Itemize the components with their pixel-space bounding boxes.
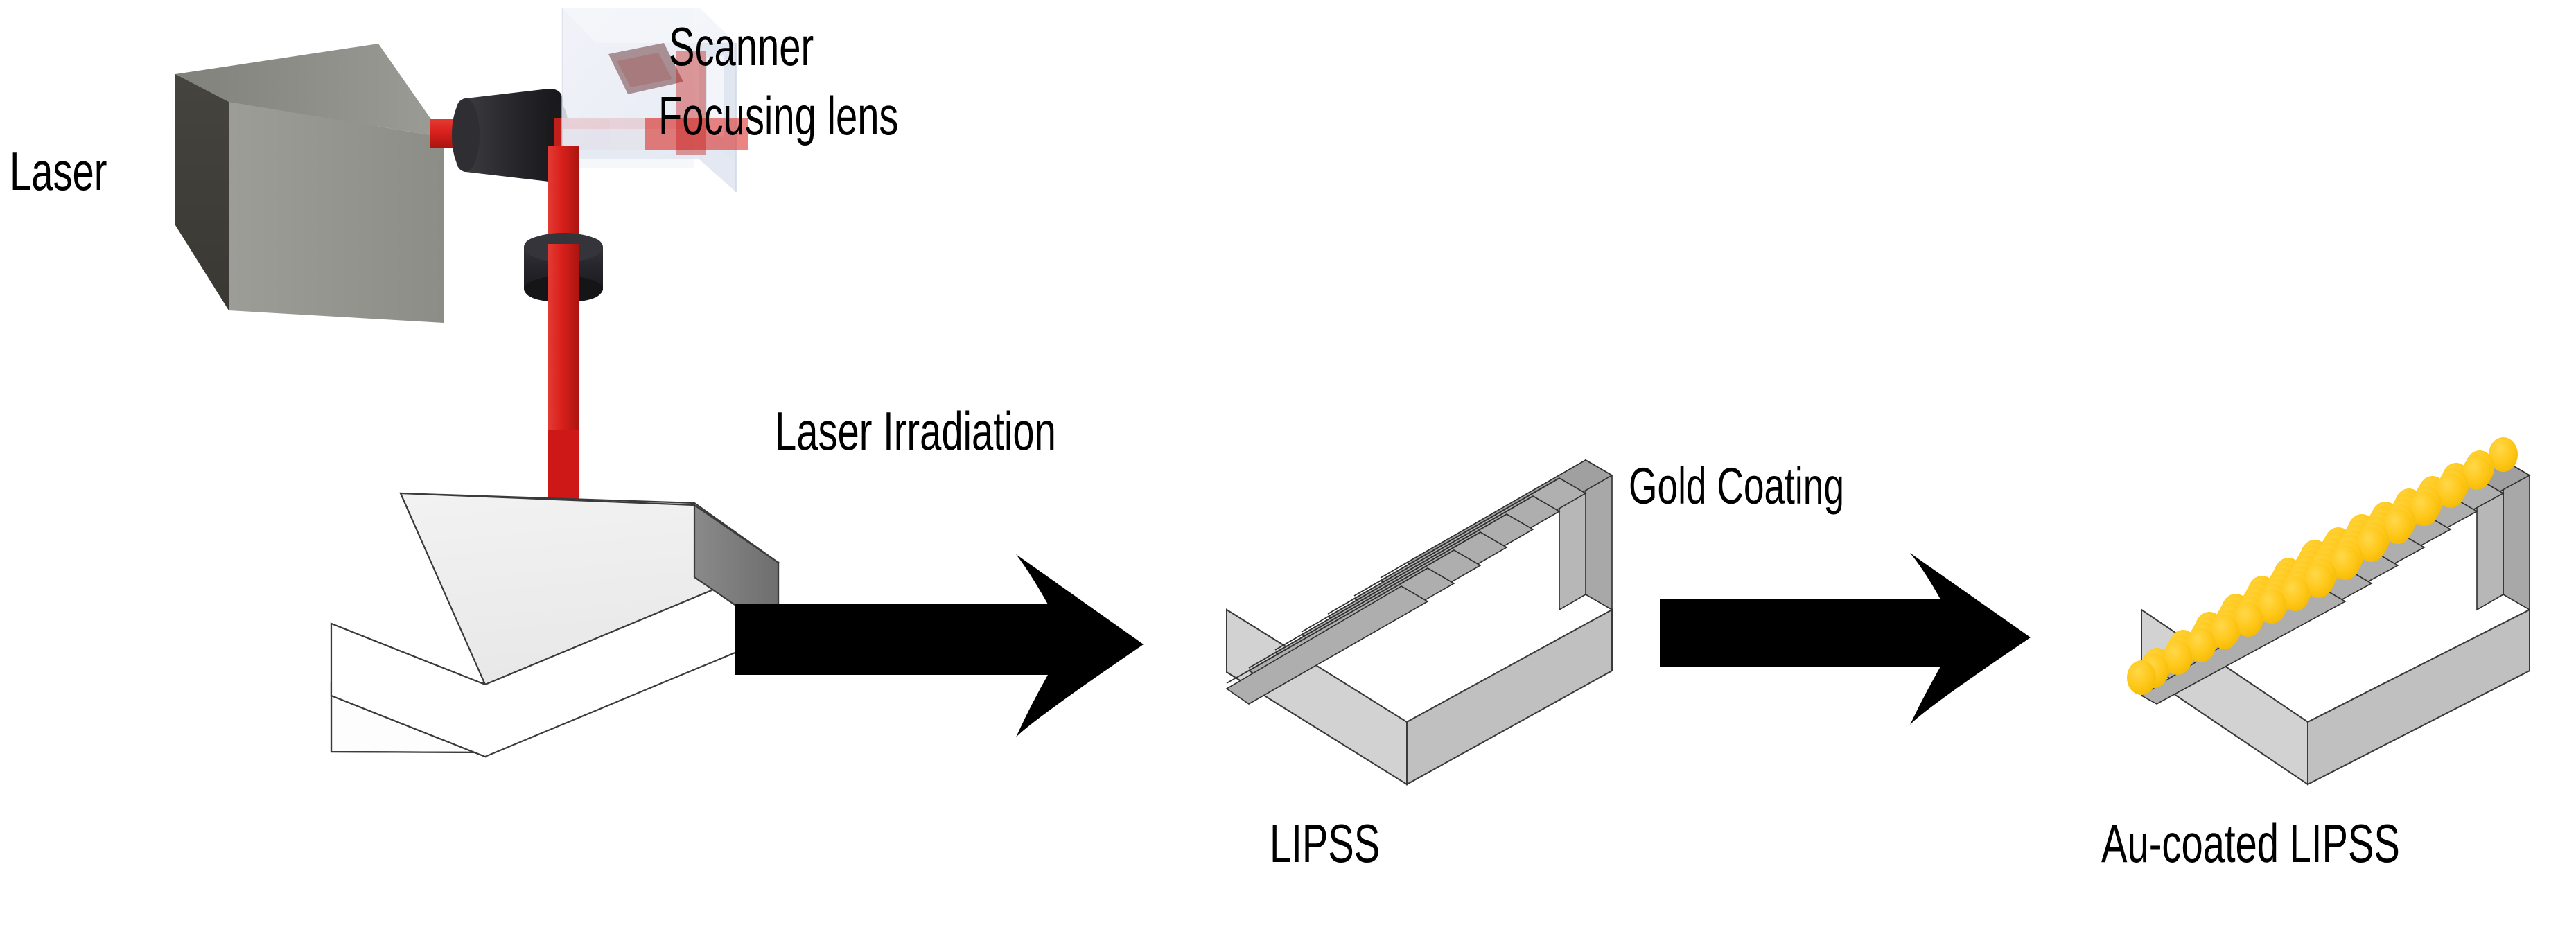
laser-irradiation-arrow (735, 554, 1144, 737)
label-laser-irradiation: Laser Irradiation (775, 404, 1056, 458)
label-au-coated-lipss: Au-coated LIPSS (2101, 816, 2400, 870)
lipss-sample (1227, 460, 1612, 784)
label-laser: Laser (10, 144, 107, 198)
laser-source (175, 44, 444, 323)
label-scanner: Scanner (669, 19, 814, 73)
au-coated-lipss-sample (2127, 437, 2530, 784)
gold-coating-arrow (1660, 553, 2031, 725)
diagram-svg (0, 0, 2576, 925)
flat-substrate (331, 493, 778, 757)
label-gold-coating: Gold Coating (1629, 461, 1844, 512)
label-focusing-lens: Focusing lens (658, 89, 899, 143)
label-lipss: LIPSS (1270, 816, 1380, 870)
diagram-canvas: Laser Scanner Focusing lens Laser Irradi… (0, 0, 2576, 925)
laser-beam-vertical-upper (548, 146, 579, 243)
